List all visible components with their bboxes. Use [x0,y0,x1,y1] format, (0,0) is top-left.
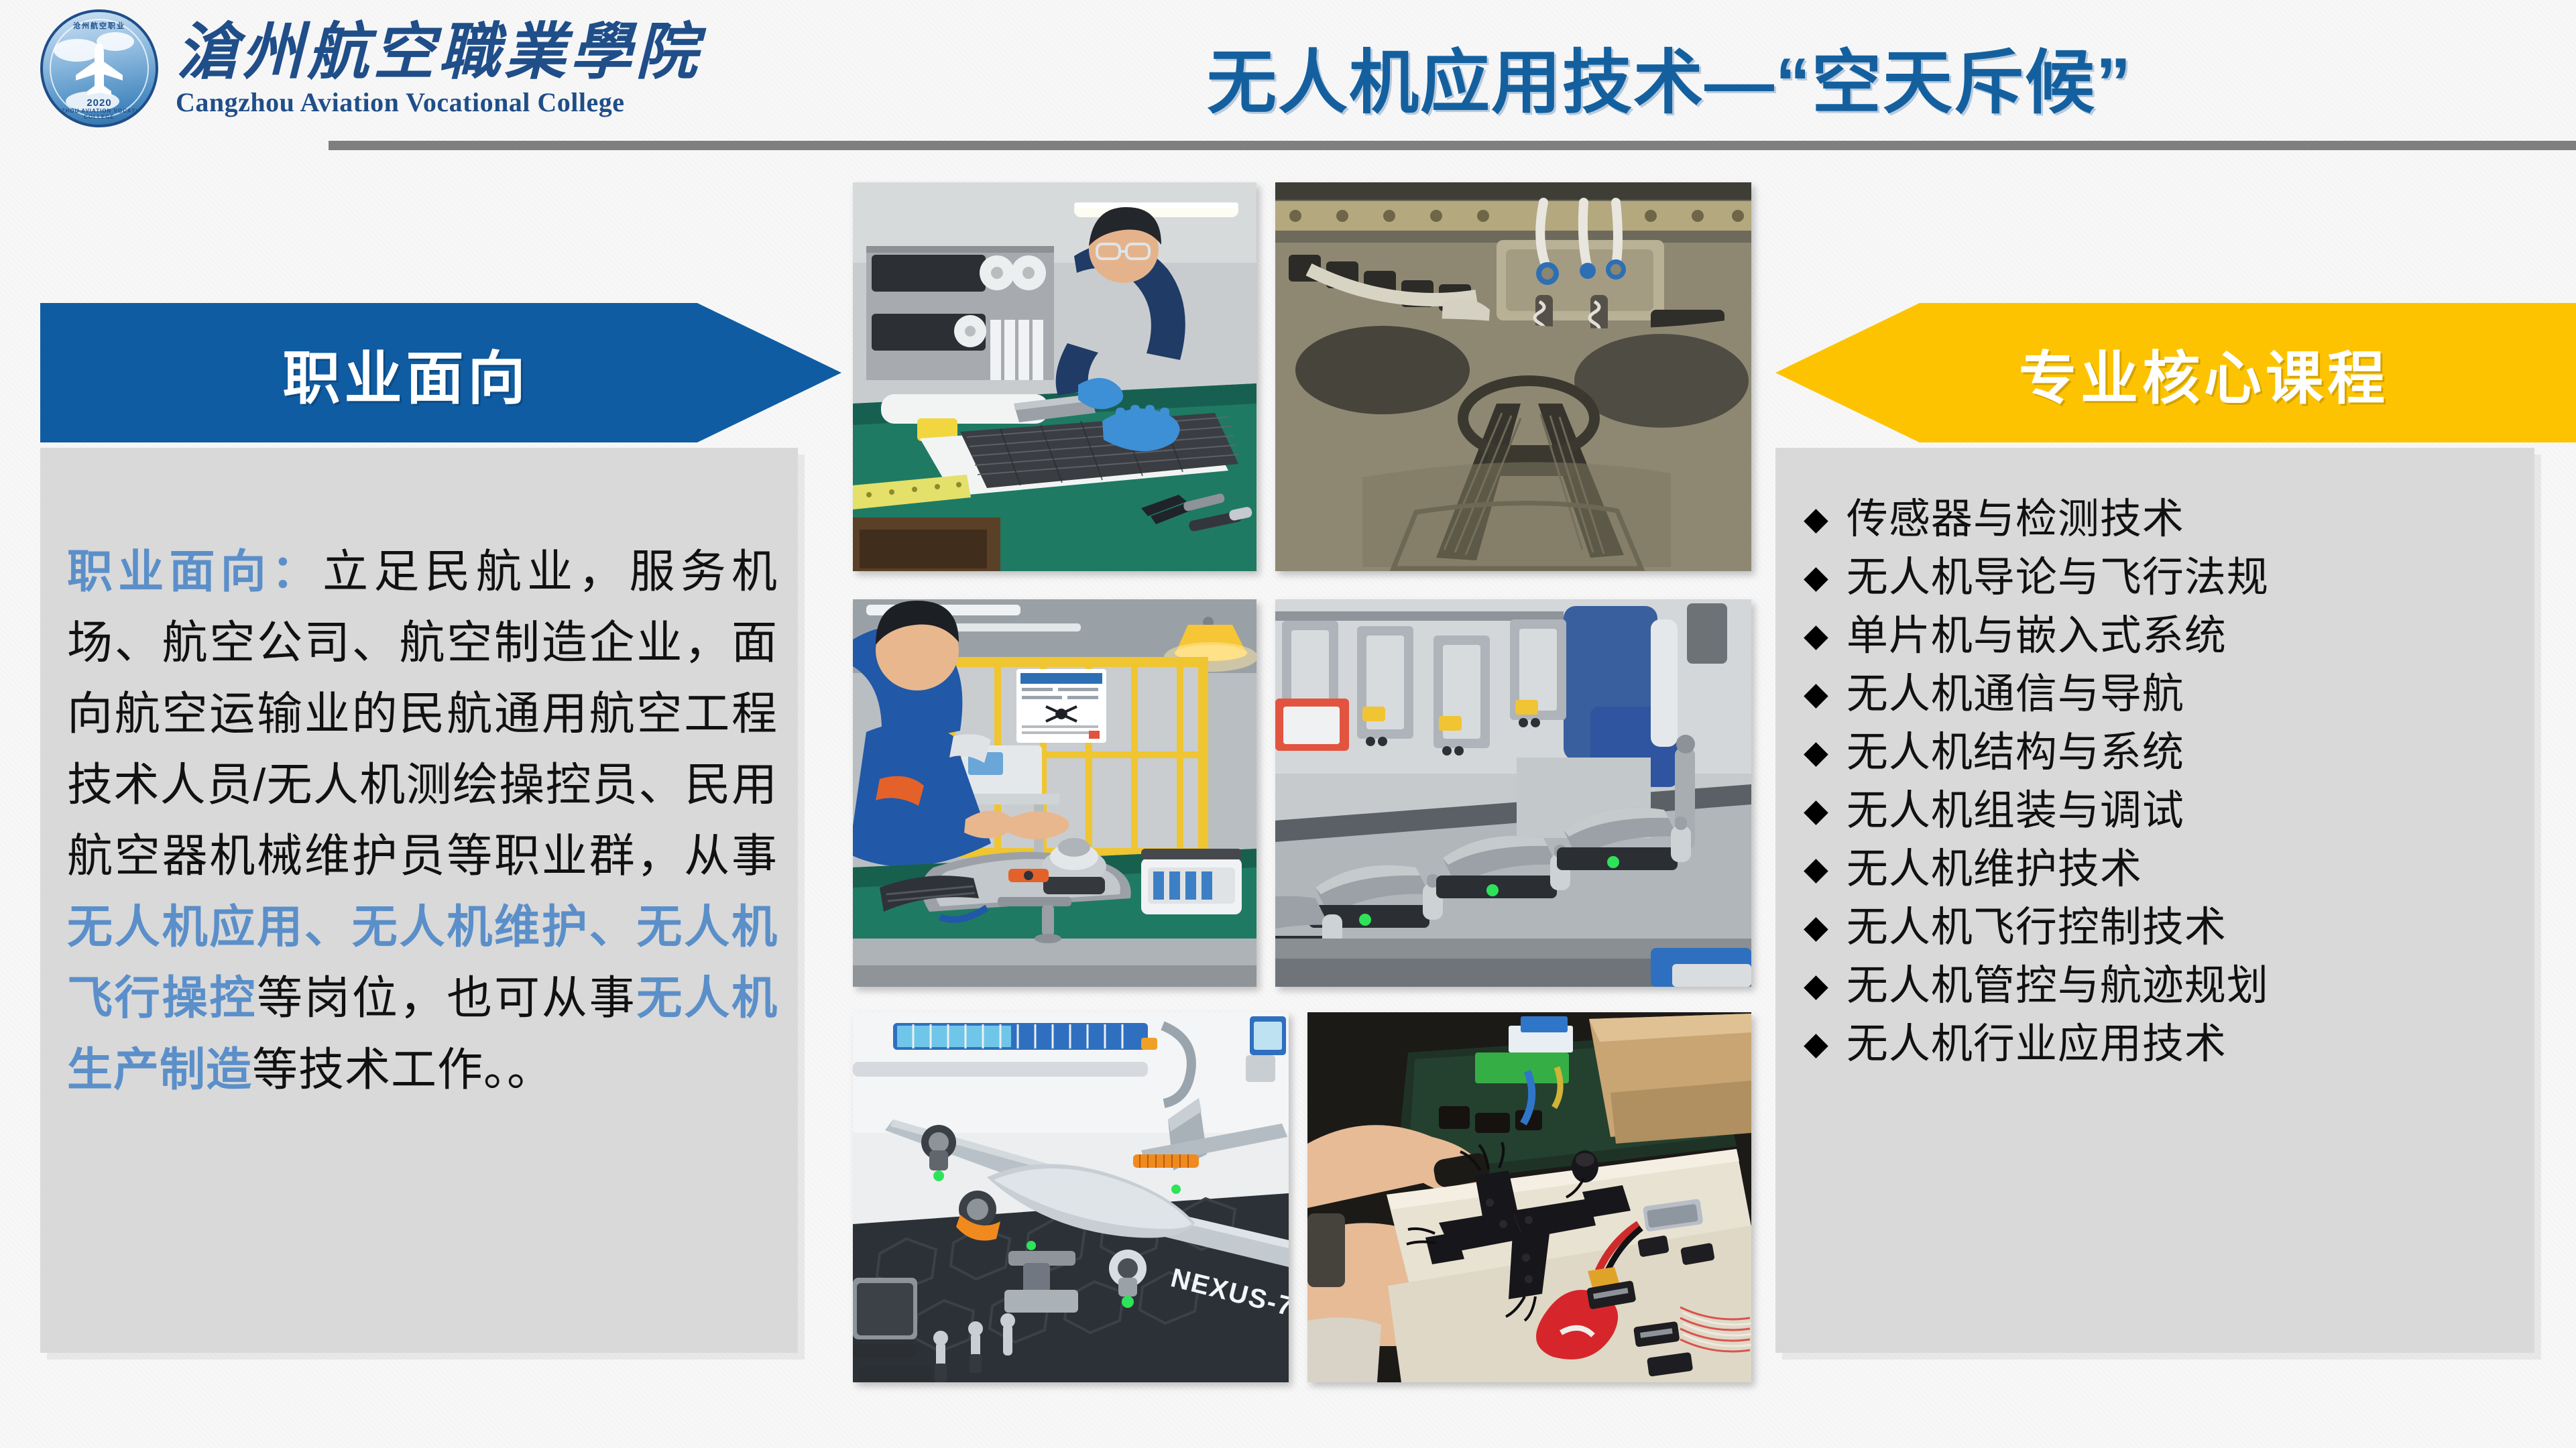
course-label: 无人机通信与导航 [1847,672,2184,717]
career-text-seg-3: 等岗位，也可从事 [257,973,636,1024]
college-name-cn: 滄州航空職業學院 [176,21,701,82]
diamond-bullet-icon: ◆ [1804,970,1829,1002]
diamond-bullet-icon: ◆ [1804,620,1829,652]
photo-production-line [1275,599,1751,987]
course-label: 无人机维护技术 [1847,847,2142,892]
diamond-bullet-icon: ◆ [1804,503,1829,536]
diamond-bullet-icon: ◆ [1804,795,1829,827]
course-label: 无人机结构与系统 [1847,731,2184,776]
seal-arc-bottom-text: CANGZHOU AVIATION VOCATIONAL COLLEGE [43,108,156,120]
diamond-bullet-icon: ◆ [1804,562,1829,594]
list-item[interactable]: ◆ 传感器与检测技术 [1804,497,2528,542]
course-label: 无人机导论与飞行法规 [1847,556,2269,601]
career-text-seg-5: 等技术工作。。 [252,1044,553,1095]
core-courses-banner: 专业核心课程 [1775,303,2576,442]
diamond-bullet-icon: ◆ [1804,1028,1829,1061]
core-courses-banner-label: 专业核心课程 [2019,331,2389,415]
seal-arc-top-text: 沧州航空职业 [43,20,156,31]
list-item[interactable]: ◆ 无人机管控与航迹规划 [1804,964,2528,1009]
slide-canvas: 沧州航空职业 2020 CANGZHOU AVIATION VOCATIONAL… [0,0,2576,1448]
course-label: 无人机飞行控制技术 [1847,906,2227,951]
photo-drone-assembly-workshop [853,599,1256,987]
career-text-seg-0: 职业面向： [67,546,323,597]
slide-header: 沧州航空职业 2020 CANGZHOU AVIATION VOCATIONAL… [0,0,2576,158]
college-seal-icon: 沧州航空职业 2020 CANGZHOU AVIATION VOCATIONAL… [40,9,158,127]
career-orientation-banner-label: 职业面向 [283,331,530,415]
photo-grid: NEXUS-7 [853,182,1751,1382]
diamond-bullet-icon: ◆ [1804,853,1829,886]
course-label: 单片机与嵌入式系统 [1847,614,2227,659]
college-logo: 沧州航空职业 2020 CANGZHOU AVIATION VOCATIONAL… [40,9,701,127]
course-label: 无人机组装与调试 [1847,789,2184,834]
header-divider [329,141,2576,150]
career-orientation-text: 职业面向：立足民航业，服务机场、航空公司、航空制造企业，面向航空运输业的民航通用… [67,536,778,1105]
diamond-bullet-icon: ◆ [1804,737,1829,769]
diamond-bullet-icon: ◆ [1804,678,1829,711]
course-label: 无人机行业应用技术 [1847,1022,2227,1067]
career-orientation-banner: 职业面向 [40,303,841,442]
page-title: 无人机应用技术—“空天斥候” [1033,25,2306,127]
list-item[interactable]: ◆ 无人机导论与飞行法规 [1804,556,2528,601]
list-item[interactable]: ◆ 无人机飞行控制技术 [1804,906,2528,951]
list-item[interactable]: ◆ 无人机组装与调试 [1804,789,2528,834]
list-item[interactable]: ◆ 单片机与嵌入式系统 [1804,614,2528,659]
list-item[interactable]: ◆ 无人机通信与导航 [1804,672,2528,717]
course-label: 传感器与检测技术 [1847,497,2184,542]
seal-year: 2020 [43,97,156,109]
diamond-bullet-icon: ◆ [1804,912,1829,944]
list-item[interactable]: ◆ 无人机结构与系统 [1804,731,2528,776]
photo-carbon-fiber-layup [853,182,1256,571]
photo-diy-frame-wiring [1307,1012,1751,1382]
photo-3d-printing-frame [1275,182,1751,571]
airplane-icon [74,42,125,99]
course-label: 无人机管控与航迹规划 [1847,964,2269,1009]
list-item[interactable]: ◆ 无人机维护技术 [1804,847,2528,892]
photo-fixed-wing-nexus7: NEXUS-7 [853,1012,1289,1382]
list-item[interactable]: ◆ 无人机行业应用技术 [1804,1022,2528,1067]
core-courses-list: ◆ 传感器与检测技术 ◆ 无人机导论与飞行法规 ◆ 单片机与嵌入式系统 ◆ 无人… [1804,497,2528,1067]
college-name-en: Cangzhou Aviation Vocational College [176,89,701,116]
